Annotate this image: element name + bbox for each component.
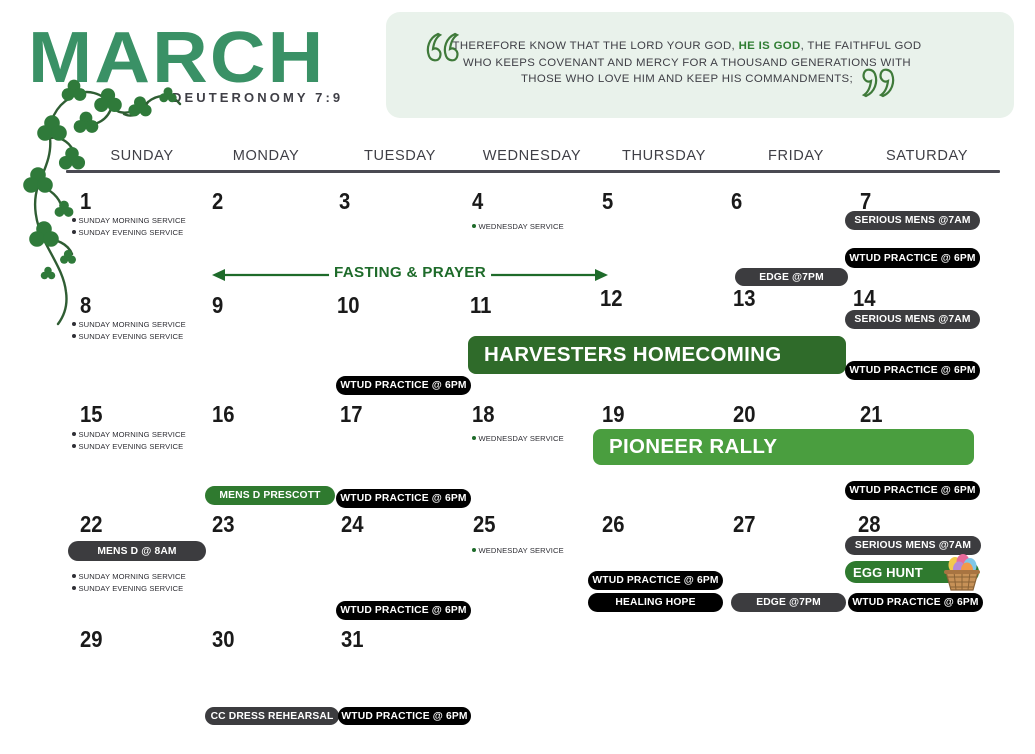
service-label: WEDNESDAY SERVICE — [479, 222, 564, 231]
day-number-25[interactable]: 25 — [473, 511, 496, 538]
day-number-17[interactable]: 17 — [340, 401, 363, 428]
service-label: SUNDAY MORNING SERVICE — [79, 320, 186, 329]
bullet-dot-icon — [72, 334, 76, 338]
day-number-27[interactable]: 27 — [733, 511, 756, 538]
service-label: SUNDAY EVENING SERVICE — [79, 442, 184, 451]
day-number-24[interactable]: 24 — [341, 511, 364, 538]
fasting-prayer-label: FASTING & PRAYER — [329, 264, 491, 281]
day-number-12[interactable]: 12 — [600, 285, 623, 312]
event-pill-edge-13[interactable]: EDGE @7PM — [735, 268, 848, 286]
event-pill-wtud-10[interactable]: WTUD PRACTICE @ 6PM — [336, 376, 471, 395]
service-list-day-4: WEDNESDAY SERVICE — [472, 221, 564, 233]
event-pill-healing-hope-26[interactable]: HEALING HOPE — [588, 593, 723, 612]
banner-harvesters-homecoming[interactable]: HARVESTERS HOMECOMING — [468, 336, 846, 374]
day-number-23[interactable]: 23 — [212, 511, 235, 538]
bullet-dot-icon — [72, 322, 76, 326]
weekday-friday: FRIDAY — [720, 148, 872, 164]
day-number-8[interactable]: 8 — [80, 292, 91, 319]
day-number-6[interactable]: 6 — [731, 188, 742, 215]
day-number-2[interactable]: 2 — [212, 188, 223, 215]
day-number-30[interactable]: 30 — [212, 626, 235, 653]
bullet-dot-icon — [72, 586, 76, 590]
service-label: SUNDAY EVENING SERVICE — [79, 584, 184, 593]
weekday-thursday: THURSDAY — [588, 148, 740, 164]
event-pill-serious-mens-7[interactable]: SERIOUS MENS @7AM — [845, 211, 980, 230]
day-number-19[interactable]: 19 — [602, 401, 625, 428]
service-list-day-25: WEDNESDAY SERVICE — [472, 545, 564, 557]
service-label: WEDNESDAY SERVICE — [479, 546, 564, 555]
page-title: MARCH — [28, 22, 325, 94]
service-list-day-8: SUNDAY MORNING SERVICE SUNDAY EVENING SE… — [72, 319, 186, 342]
verse-reference: DEUTERONOMY 7:9 — [172, 90, 343, 105]
quote-highlight: HE IS GOD — [739, 40, 801, 52]
bullet-dot-icon — [472, 548, 476, 552]
quote-line1-before: THEREFORE KNOW THAT THE LORD YOUR GOD, — [453, 40, 739, 52]
day-number-4[interactable]: 4 — [472, 188, 483, 215]
shamrock-vine-icon — [8, 78, 188, 338]
bullet-dot-icon — [72, 444, 76, 448]
bullet-dot-icon — [72, 230, 76, 234]
day-number-18[interactable]: 18 — [472, 401, 495, 428]
event-pill-wtud-31[interactable]: WTUD PRACTICE @ 6PM — [338, 707, 471, 725]
event-pill-wtud-26[interactable]: WTUD PRACTICE @ 6PM — [588, 571, 723, 590]
event-pill-wtud-17[interactable]: WTUD PRACTICE @ 6PM — [336, 489, 471, 508]
bullet-dot-icon — [472, 436, 476, 440]
fasting-prayer-arrow: FASTING & PRAYER — [212, 264, 608, 286]
easter-basket-icon — [938, 552, 984, 592]
day-number-29[interactable]: 29 — [80, 626, 103, 653]
day-number-16[interactable]: 16 — [212, 401, 235, 428]
day-number-9[interactable]: 9 — [212, 292, 223, 319]
weekday-monday: MONDAY — [190, 148, 342, 164]
event-pill-cc-dress-rehearsal[interactable]: CC DRESS REHEARSAL — [205, 707, 339, 725]
weekday-wednesday: WEDNESDAY — [456, 148, 608, 164]
weekday-tuesday: TUESDAY — [324, 148, 476, 164]
day-number-3[interactable]: 3 — [339, 188, 350, 215]
service-list-day-18: WEDNESDAY SERVICE — [472, 433, 564, 445]
day-number-13[interactable]: 13 — [733, 285, 756, 312]
service-label: WEDNESDAY SERVICE — [479, 434, 564, 443]
bullet-dot-icon — [72, 574, 76, 578]
service-label: SUNDAY MORNING SERVICE — [79, 430, 186, 439]
header-divider — [66, 170, 1000, 173]
weekday-saturday: SATURDAY — [851, 148, 1003, 164]
service-list-day-22: SUNDAY MORNING SERVICE SUNDAY EVENING SE… — [72, 571, 186, 594]
day-number-1[interactable]: 1 — [80, 188, 91, 215]
event-pill-wtud-14-top[interactable]: WTUD PRACTICE @ 6PM — [845, 249, 980, 268]
day-number-22[interactable]: 22 — [80, 511, 103, 538]
quote-text: THEREFORE KNOW THAT THE LORD YOUR GOD, H… — [452, 38, 922, 88]
calendar-page: MARCH DEUTERONOMY 7:9 — [0, 0, 1035, 754]
event-pill-serious-mens-14[interactable]: SERIOUS MENS @7AM — [845, 310, 980, 329]
service-label: SUNDAY EVENING SERVICE — [79, 228, 184, 237]
day-number-20[interactable]: 20 — [733, 401, 756, 428]
weekday-header-row: SUNDAY MONDAY TUESDAY WEDNESDAY THURSDAY… — [66, 148, 1000, 170]
event-pill-wtud-28[interactable]: WTUD PRACTICE @ 6PM — [848, 593, 983, 612]
event-pill-edge-27[interactable]: EDGE @7PM — [731, 593, 846, 612]
event-pill-mens-d-8am[interactable]: MENS D @ 8AM — [68, 541, 206, 561]
event-pill-wtud-14-bottom[interactable]: WTUD PRACTICE @ 6PM — [845, 361, 980, 380]
bullet-dot-icon — [72, 218, 76, 222]
service-list-day-1: SUNDAY MORNING SERVICE SUNDAY EVENING SE… — [72, 215, 186, 238]
service-list-day-15: SUNDAY MORNING SERVICE SUNDAY EVENING SE… — [72, 429, 186, 452]
quote-line1-after: , THE FAITHFUL — [801, 40, 891, 52]
service-label: SUNDAY MORNING SERVICE — [79, 572, 186, 581]
service-label: SUNDAY MORNING SERVICE — [79, 216, 186, 225]
event-pill-wtud-21[interactable]: WTUD PRACTICE @ 6PM — [845, 481, 980, 500]
day-number-31[interactable]: 31 — [341, 626, 364, 653]
day-number-11[interactable]: 11 — [470, 292, 491, 319]
day-number-21[interactable]: 21 — [860, 401, 883, 428]
day-number-26[interactable]: 26 — [602, 511, 625, 538]
service-label: SUNDAY EVENING SERVICE — [79, 332, 184, 341]
day-number-28[interactable]: 28 — [858, 511, 881, 538]
event-pill-wtud-24[interactable]: WTUD PRACTICE @ 6PM — [336, 601, 471, 620]
day-number-10[interactable]: 10 — [337, 292, 360, 319]
banner-pioneer-rally[interactable]: PIONEER RALLY — [593, 429, 974, 465]
day-number-5[interactable]: 5 — [602, 188, 613, 215]
bullet-dot-icon — [472, 224, 476, 228]
event-pill-mens-d-prescott[interactable]: MENS D PRESCOTT — [205, 486, 335, 505]
day-number-15[interactable]: 15 — [80, 401, 103, 428]
bullet-dot-icon — [72, 432, 76, 436]
day-number-14[interactable]: 14 — [853, 285, 876, 312]
